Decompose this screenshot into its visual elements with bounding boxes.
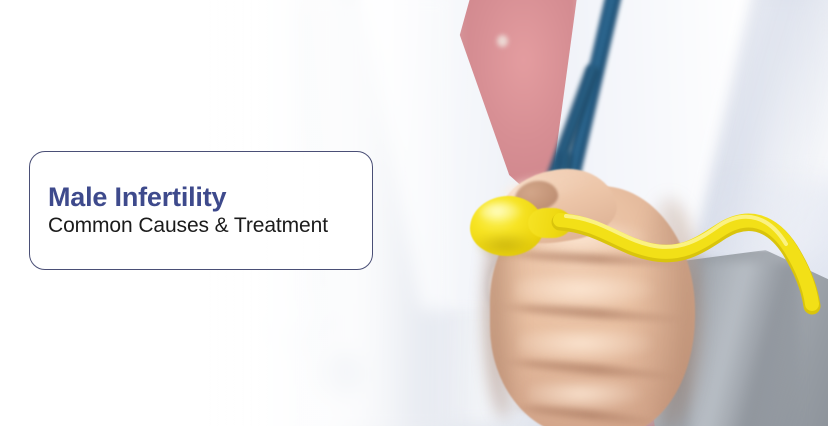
- headline-card: Male Infertility Common Causes & Treatme…: [29, 151, 373, 270]
- sperm-model-tail: [560, 220, 812, 304]
- headline-title: Male Infertility: [48, 182, 372, 212]
- article-banner: Male Infertility Common Causes & Treatme…: [0, 0, 828, 426]
- headline-subtitle: Common Causes & Treatment: [48, 214, 372, 239]
